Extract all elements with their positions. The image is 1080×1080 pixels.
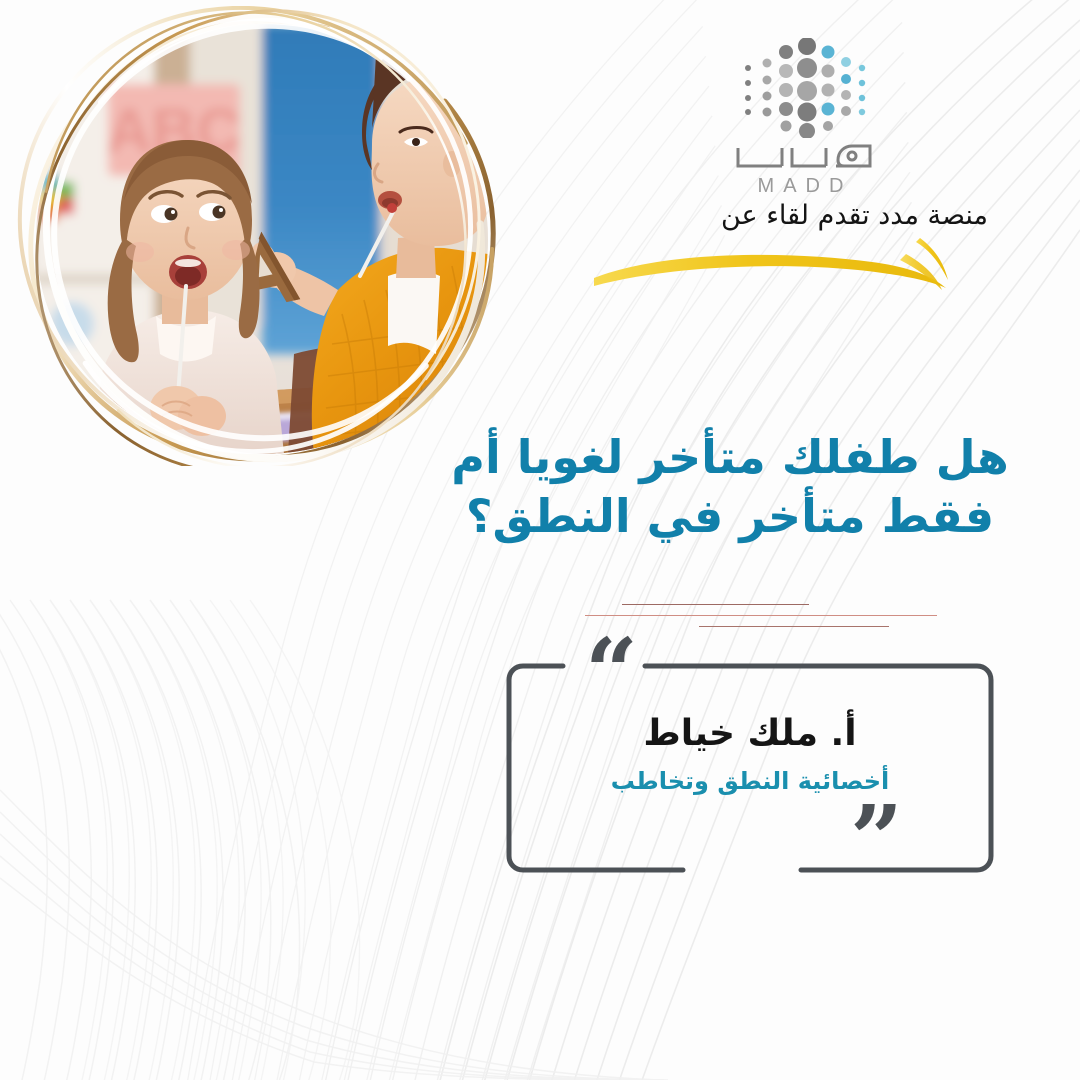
headline-line-1: هل طفلك متأخر لغويا أم xyxy=(420,428,1040,487)
photo-circle-mask: ABC xyxy=(36,24,488,454)
therapy-session-illustration: ABC xyxy=(36,24,488,454)
page-title: هل طفلك متأخر لغويا أم فقط متأخر في النط… xyxy=(420,428,1040,546)
yellow-swoosh-icon xyxy=(590,236,950,300)
divider-line-1 xyxy=(622,604,809,605)
speaker-quote-box: “ ” أ. ملك خياط أخصائية النطق وتخاطب xyxy=(505,662,995,874)
promo-card-canvas: ABC xyxy=(0,0,1080,1080)
speaker-name: أ. ملك خياط xyxy=(505,714,995,754)
quote-open-mark: “ xyxy=(585,626,638,718)
svg-text:MADD: MADD xyxy=(758,175,853,196)
subtitle-block: منصة مدد تقدم لقاء عن xyxy=(590,200,1010,300)
divider-line-2 xyxy=(585,615,937,616)
divider-line-3 xyxy=(699,626,889,627)
speaker-details: أ. ملك خياط أخصائية النطق وتخاطب xyxy=(505,714,995,794)
madd-logo: MADD xyxy=(700,38,910,198)
quote-close-mark: ” xyxy=(850,793,903,885)
hero-photo: ABC xyxy=(8,6,518,466)
speaker-title: أخصائية النطق وتخاطب xyxy=(505,768,995,794)
dot-grid-icon xyxy=(735,38,875,138)
subtitle-text: منصة مدد تقدم لقاء عن xyxy=(608,200,988,231)
headline-line-2: فقط متأخر في النطق؟ xyxy=(420,487,1040,546)
madd-wordmark: MADD xyxy=(730,140,880,196)
